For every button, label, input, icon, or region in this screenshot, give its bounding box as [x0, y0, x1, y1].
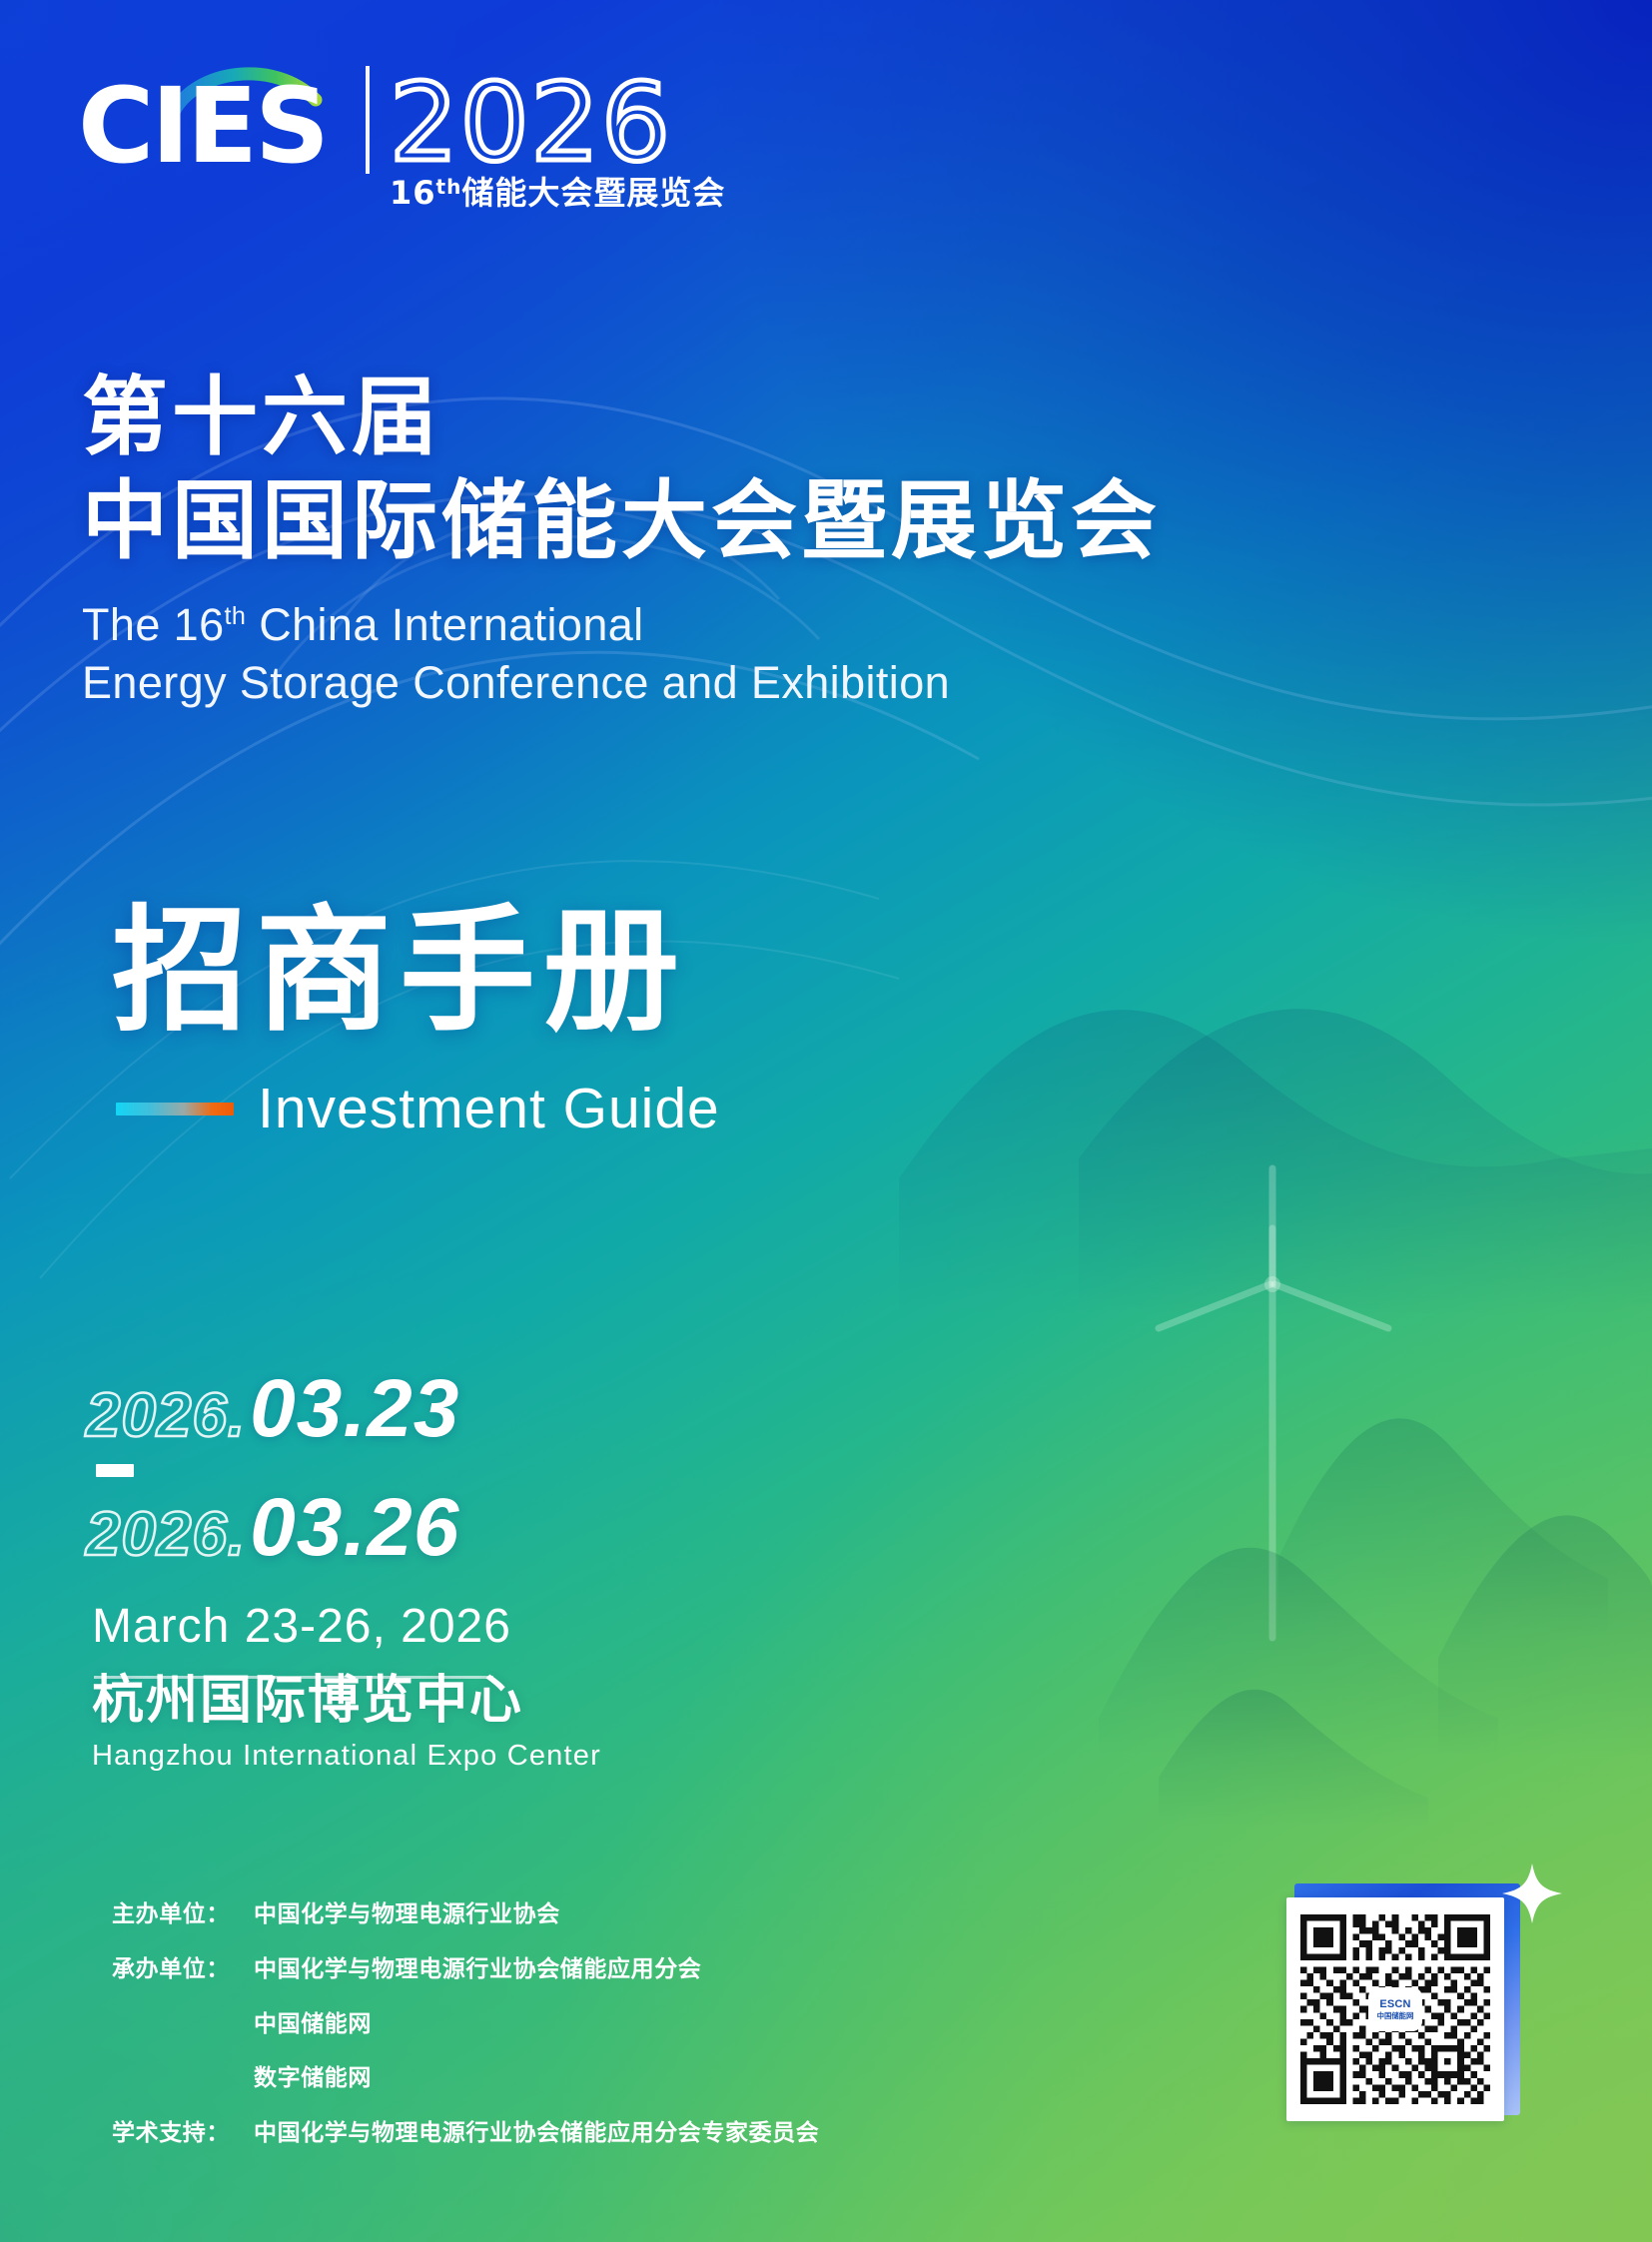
qr-center-logo-cn: 中国储能网	[1377, 2012, 1414, 2019]
guide-title-block: 招商手册 Investment Guide	[112, 904, 720, 1141]
headline-en-line1-pre: The 16	[82, 599, 225, 650]
page-title: 第十六届 中国国际储能大会暨展览会 The 16th China Interna…	[82, 370, 1161, 713]
logo-tagline-ordinal: th	[436, 175, 462, 199]
event-date-start-monthday: 03.23	[250, 1368, 459, 1450]
venue-block: 杭州国际博览中心 Hangzhou International Expo Cen…	[92, 1673, 601, 1773]
event-date-end: 2026. 03.26	[86, 1487, 511, 1569]
organizers-block: 主办单位： 中国化学与物理电源行业协会 承办单位： 中国化学与物理电源行业协会储…	[112, 1900, 1011, 2148]
poster-cover: CIES 2026 16th储能大会暨展览会 第十六届 中国国际储能大会暨	[0, 0, 1652, 2242]
organizer-row: 承办单位： 中国化学与物理电源行业协会储能应用分会	[112, 1955, 1011, 1984]
wind-turbine-hub	[1264, 1276, 1280, 1292]
logo-tagline-number: 16	[390, 174, 436, 212]
organizer-label: 承办单位：	[112, 1955, 254, 1984]
venue-name-en: Hangzhou International Expo Center	[92, 1740, 601, 1773]
wind-turbine-icon	[1159, 1168, 1388, 1638]
event-date-start-year: 2026.	[86, 1385, 246, 1447]
qr-code-block[interactable]: ESCN 中国储能网	[1286, 1897, 1516, 2129]
mountain-shape-mid	[1278, 1418, 1608, 1638]
cies-logo-svg: CIES 2026 16th储能大会暨展览会	[78, 52, 857, 212]
guide-title-en: Investment Guide	[258, 1076, 720, 1141]
headline-en: The 16th China International Energy Stor…	[82, 596, 1161, 713]
event-date-start: 2026. 03.23	[86, 1368, 511, 1450]
event-dates-block: 2026. 03.23 2026. 03.26 March 23-26, 202…	[86, 1368, 511, 1679]
organizer-label: 学术支持：	[112, 2119, 254, 2148]
logo-year-outline: 2026	[390, 61, 672, 186]
svg-text:CIES: CIES	[78, 65, 327, 187]
organizer-value: 数字储能网	[254, 2064, 372, 2093]
headline-cn-line2: 中国国际储能大会暨展览会	[82, 473, 1161, 569]
svg-text:16th储能大会暨展览会: 16th储能大会暨展览会	[390, 174, 725, 212]
qr-code-card[interactable]: ESCN 中国储能网	[1286, 1897, 1504, 2121]
organizer-value: 中国化学与物理电源行业协会储能应用分会	[254, 1955, 701, 1984]
qr-center-logo-en: ESCN	[1379, 1999, 1410, 2010]
event-date-end-year: 2026.	[86, 1504, 246, 1566]
headline-en-ordinal: th	[225, 602, 247, 630]
hill-shape-far	[899, 1010, 1652, 1318]
headline-cn-line1: 第十六届	[82, 370, 1161, 465]
qr-center-logo: ESCN 中国储能网	[1370, 1989, 1420, 2029]
headline-en-line2: Energy Storage Conference and Exhibition	[82, 654, 1161, 713]
svg-text:2026: 2026	[390, 61, 672, 186]
logo-tagline: 16th储能大会暨展览会	[390, 174, 725, 212]
mountain-shape-left	[1099, 1548, 1498, 1758]
headline-en-line1: The 16th China International	[82, 596, 1161, 655]
mountain-shape-small	[1159, 1690, 1428, 1828]
gradient-rule-decoration	[116, 1103, 234, 1116]
organizer-value: 中国化学与物理电源行业协会储能应用分会专家委员会	[254, 2119, 819, 2148]
cies-wordmark: CIES	[78, 65, 327, 187]
event-date-en: March 23-26, 2026	[92, 1599, 511, 1654]
organizer-row: 承办单位： 中国储能网	[112, 2010, 1011, 2039]
headline-en-line1-post: China International	[246, 599, 643, 650]
organizer-row: 主办单位： 中国化学与物理电源行业协会	[112, 1900, 1011, 1929]
organizer-value: 中国储能网	[254, 2010, 372, 2039]
organizer-label: 主办单位：	[112, 1900, 254, 1929]
logo-divider	[366, 66, 370, 174]
mountain-shape-right	[1438, 1515, 1652, 1758]
date-range-dash-icon	[96, 1464, 134, 1477]
organizer-row: 承办单位： 数字储能网	[112, 2064, 1011, 2093]
hill-shape-far-2	[1079, 1009, 1652, 1318]
cies-logo-lockup: CIES 2026 16th储能大会暨展览会	[78, 52, 857, 212]
sparkle-icon	[1500, 1862, 1564, 1925]
organizer-value: 中国化学与物理电源行业协会	[254, 1900, 560, 1929]
event-date-end-monthday: 03.26	[250, 1487, 459, 1569]
guide-title-en-row: Investment Guide	[116, 1076, 720, 1141]
logo-tagline-cn: 储能大会暨展览会	[461, 174, 725, 212]
venue-name-cn: 杭州国际博览中心	[92, 1673, 601, 1730]
organizer-row: 学术支持： 中国化学与物理电源行业协会储能应用分会专家委员会	[112, 2119, 1011, 2148]
guide-title-cn: 招商手册	[112, 904, 720, 1040]
